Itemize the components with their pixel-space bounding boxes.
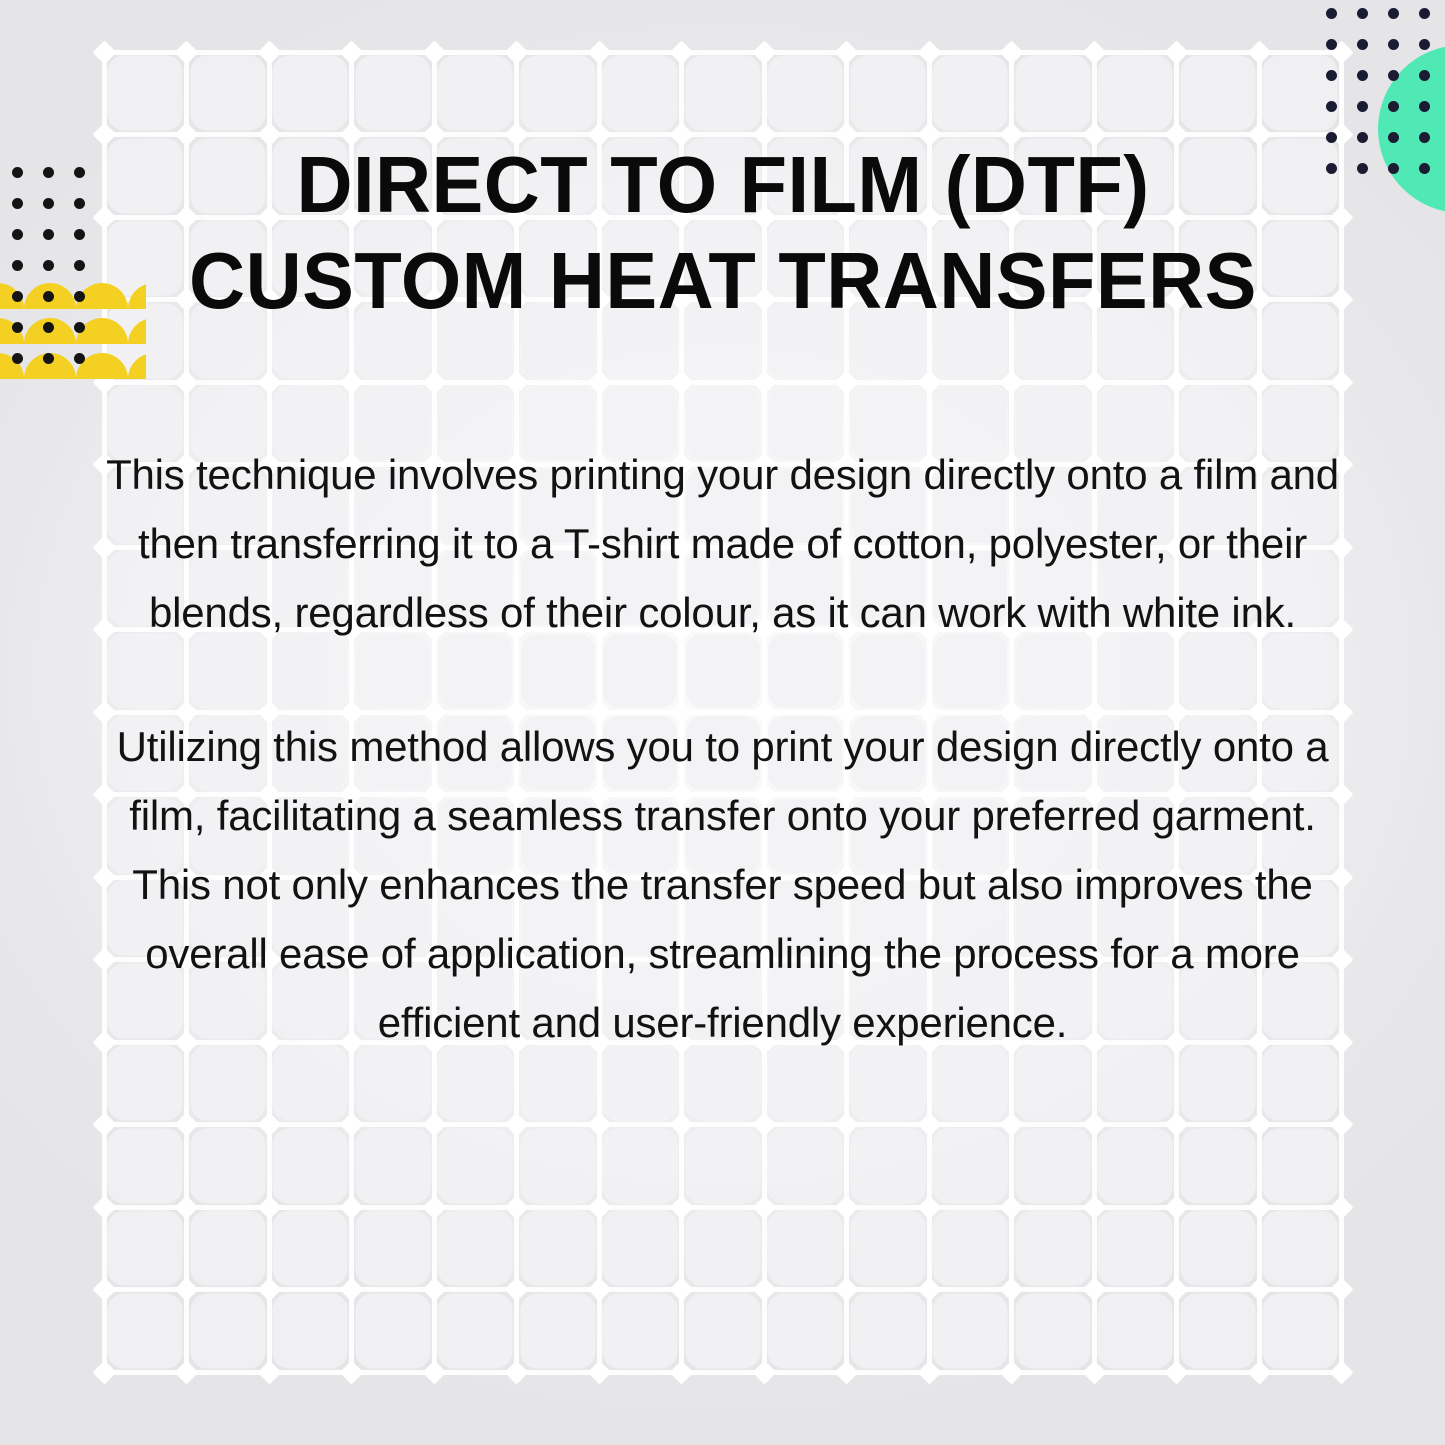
content-area: DIRECT TO FILM (DTF) CUSTOM HEAT TRANSFE… (0, 0, 1445, 1445)
body-paragraph-2: Utilizing this method allows you to prin… (100, 712, 1345, 1057)
poster-canvas: DIRECT TO FILM (DTF) CUSTOM HEAT TRANSFE… (0, 0, 1445, 1445)
page-title-line-1: DIRECT TO FILM (DTF) (174, 137, 1270, 233)
page-title-line-2: CUSTOM HEAT TRANSFERS (174, 233, 1270, 329)
page-title: DIRECT TO FILM (DTF) CUSTOM HEAT TRANSFE… (174, 137, 1270, 329)
body-paragraph-1: This technique involves printing your de… (100, 440, 1345, 647)
body-copy: This technique involves printing your de… (100, 329, 1345, 1057)
